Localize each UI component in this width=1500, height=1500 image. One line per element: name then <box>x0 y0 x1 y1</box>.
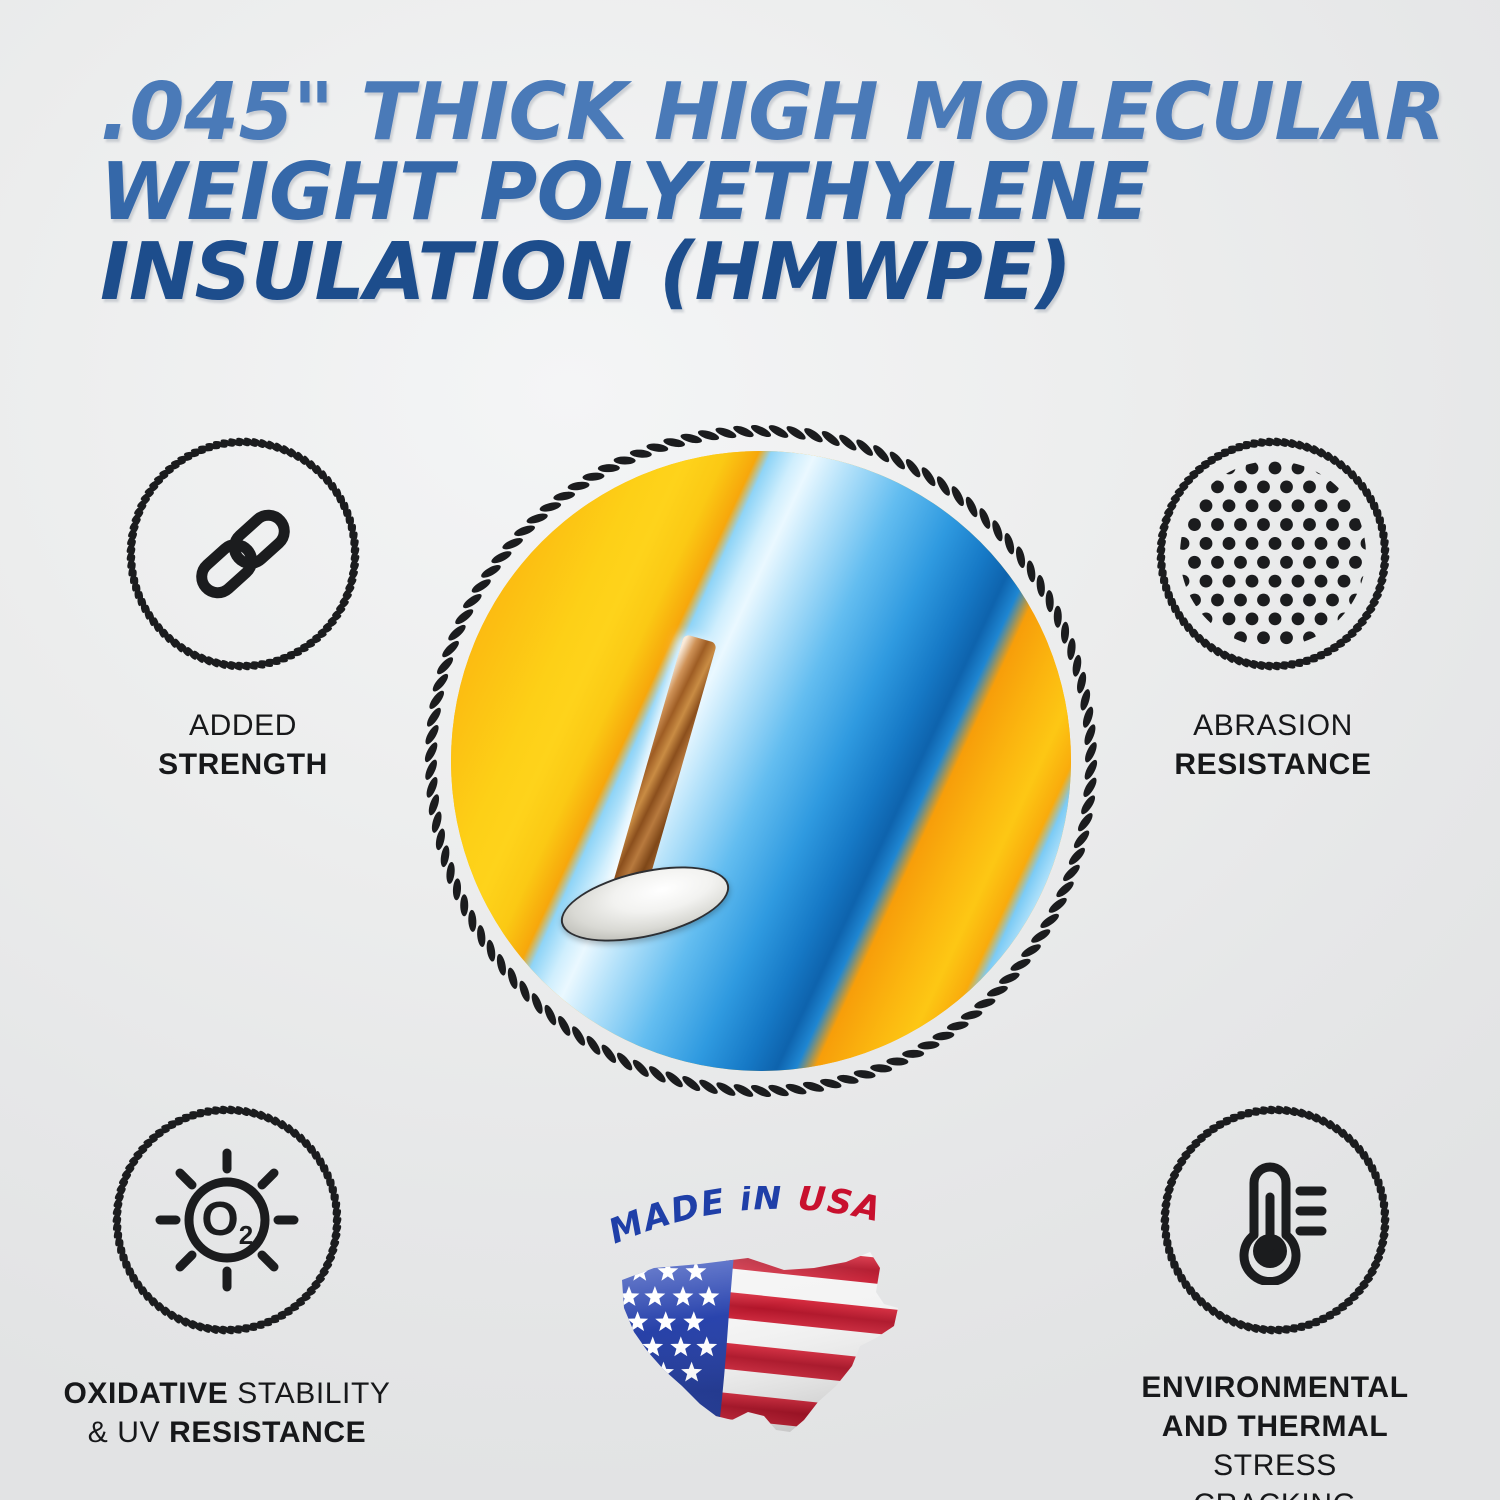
dot-grid-abrasion-icon <box>1175 456 1371 652</box>
feature-label-line2-plain: & UV <box>88 1416 169 1449</box>
made-in-usa-badge: MADE iN USA <box>590 1186 920 1456</box>
feature-icon-circle <box>1147 428 1399 680</box>
feature-label: ENVIRONMENTAL AND THERMAL STRESS CRACKIN… <box>1110 1368 1440 1500</box>
cable-photo-gradient <box>451 451 1071 1071</box>
feature-label: OXIDATIVE STABILITY & UV RESISTANCE <box>62 1374 392 1452</box>
product-infographic: .045" THICK HIGH MOLECULAR WEIGHT POLYET… <box>0 0 1500 1500</box>
title-line-3: INSULATION (HMWPE) <box>100 232 1430 312</box>
title-line-1: .045" THICK HIGH MOLECULAR <box>100 72 1430 152</box>
usa-flag-map-icon <box>608 1234 908 1452</box>
usa-text: USA <box>796 1186 885 1230</box>
feature-label-line1-bold: OXIDATIVE <box>63 1377 228 1410</box>
page-title: .045" THICK HIGH MOLECULAR WEIGHT POLYET… <box>100 72 1430 312</box>
feature-icon-circle <box>1151 1096 1399 1344</box>
feature-label: ADDED STRENGTH <box>78 706 408 784</box>
feature-added-strength: ADDED STRENGTH <box>78 428 408 784</box>
feature-label-line1: ADDED <box>189 709 297 742</box>
feature-label: ABRASION RESISTANCE <box>1108 706 1438 784</box>
feature-label-line2-bold: RESISTANCE <box>169 1416 366 1449</box>
feature-label-line2-bold: AND THERMAL <box>1162 1410 1389 1443</box>
sun-o2-icon: O 2 <box>152 1145 302 1295</box>
feature-environmental-thermal: ENVIRONMENTAL AND THERMAL STRESS CRACKIN… <box>1110 1096 1440 1500</box>
product-photo <box>451 451 1071 1071</box>
feature-label-line3: CRACKING RESISTANCE <box>1177 1488 1372 1500</box>
feature-label-line1: ABRASION <box>1193 709 1353 742</box>
title-line-2: WEIGHT POLYETHYLENE <box>100 152 1430 232</box>
feature-label-line1-plain: STABILITY <box>228 1377 390 1410</box>
feature-oxidative-stability: O 2 OXIDATIVE STABILITY & UV RESISTANCE <box>62 1096 392 1452</box>
feature-label-line2: STRENGTH <box>158 748 328 781</box>
product-image-badge <box>408 408 1114 1114</box>
o2-glyph-letter: O <box>201 1193 238 1246</box>
feature-label-line2-plain: STRESS <box>1213 1449 1337 1482</box>
o2-glyph-subscript: 2 <box>239 1220 253 1250</box>
feature-icon-circle: O 2 <box>103 1096 351 1344</box>
feature-abrasion-resistance: ABRASION RESISTANCE <box>1108 428 1438 784</box>
thermometer-icon <box>1210 1155 1340 1285</box>
chain-link-icon <box>187 498 299 610</box>
feature-label-line2: RESISTANCE <box>1174 748 1371 781</box>
feature-label-line1: ENVIRONMENTAL <box>1141 1371 1408 1404</box>
feature-icon-circle <box>117 428 369 680</box>
